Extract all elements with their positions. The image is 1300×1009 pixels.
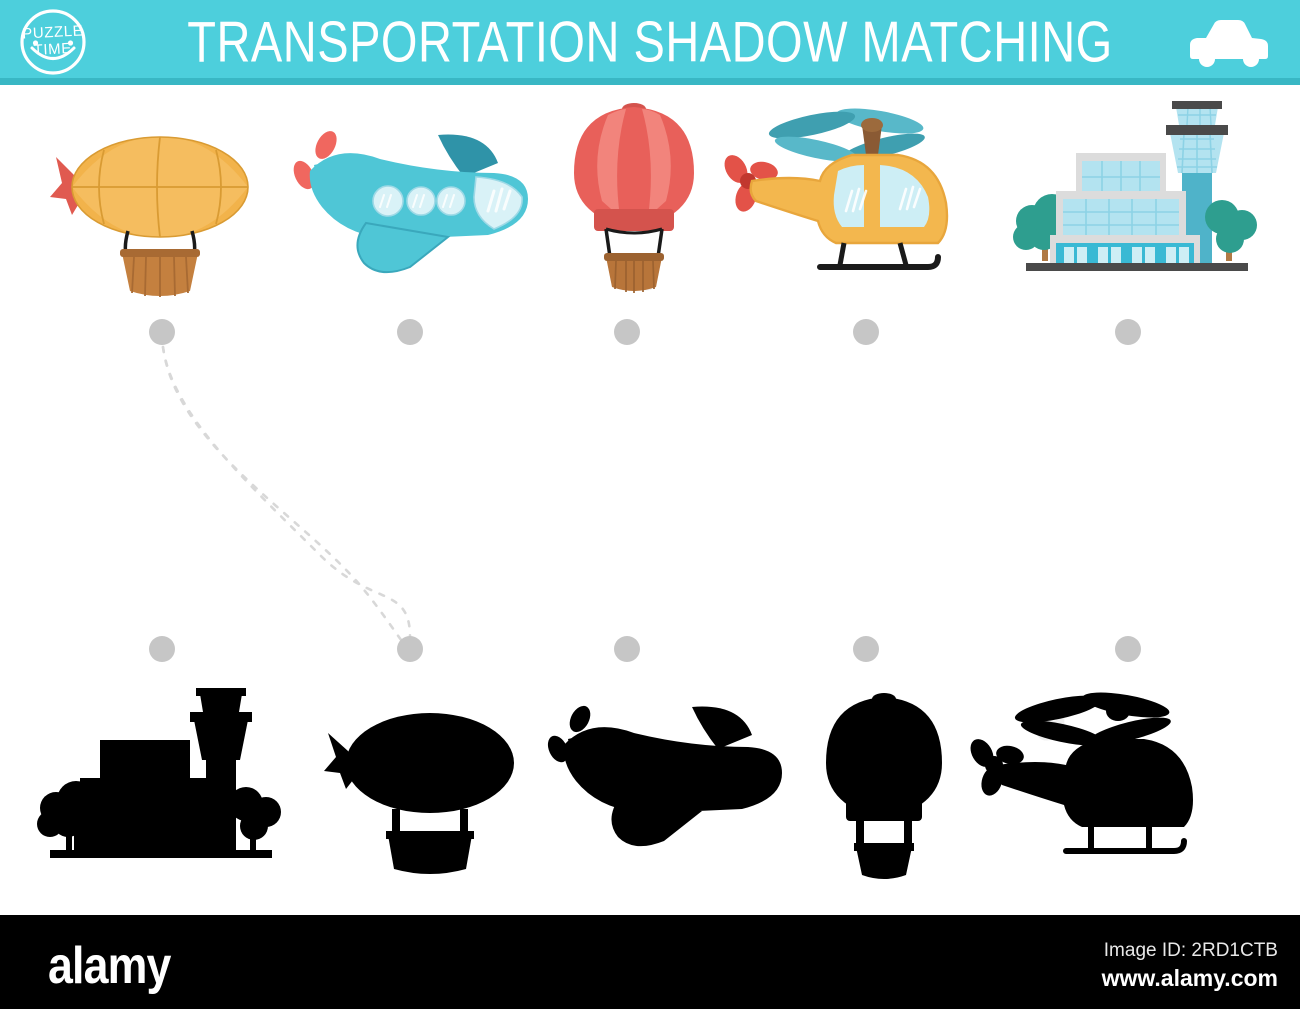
page-header: PUZZLE TIME TRANSPORTATION SHADOW MATCHI… <box>0 0 1300 85</box>
image-id-label: Image ID: 2RD1CTB <box>1104 940 1278 962</box>
header-underline <box>0 78 1300 85</box>
connector-dot-bottom-helicopter[interactable] <box>1115 636 1141 662</box>
connector-dot-top-airplane[interactable] <box>397 319 423 345</box>
airship[interactable] <box>42 105 282 305</box>
connector-dot-top-airport[interactable] <box>1115 319 1141 345</box>
puzzle-area: a a a <box>0 85 1300 915</box>
connector-dot-bottom-balloon[interactable] <box>853 636 879 662</box>
airport-building[interactable] <box>1010 95 1266 300</box>
car-icon <box>1182 12 1274 72</box>
airplane[interactable] <box>288 125 538 305</box>
balloon-shadow[interactable] <box>818 683 950 883</box>
tree-right <box>1205 200 1257 261</box>
connector-dot-bottom-airport[interactable] <box>149 636 175 662</box>
hot-air-balloon[interactable] <box>568 95 700 305</box>
airplane-shadow[interactable] <box>546 695 796 875</box>
alamy-wordmark: alamy <box>48 936 171 996</box>
connector-dot-top-balloon[interactable] <box>614 319 640 345</box>
helicopter[interactable] <box>712 103 974 298</box>
page-footer: alamy Image ID: 2RD1CTB www.alamy.com <box>0 915 1300 1009</box>
connector-dot-bottom-airplane[interactable] <box>614 636 640 662</box>
alamy-url: www.alamy.com <box>1102 965 1278 992</box>
helicopter-shadow[interactable] <box>958 685 1220 880</box>
airport-shadow[interactable] <box>34 680 296 880</box>
connector-dot-bottom-airship[interactable] <box>397 636 423 662</box>
connector-dot-top-airship[interactable] <box>149 319 175 345</box>
page-title: TRANSPORTATION SHADOW MATCHING <box>0 8 1300 75</box>
airship-shadow[interactable] <box>322 685 540 880</box>
connector-dot-top-helicopter[interactable] <box>853 319 879 345</box>
